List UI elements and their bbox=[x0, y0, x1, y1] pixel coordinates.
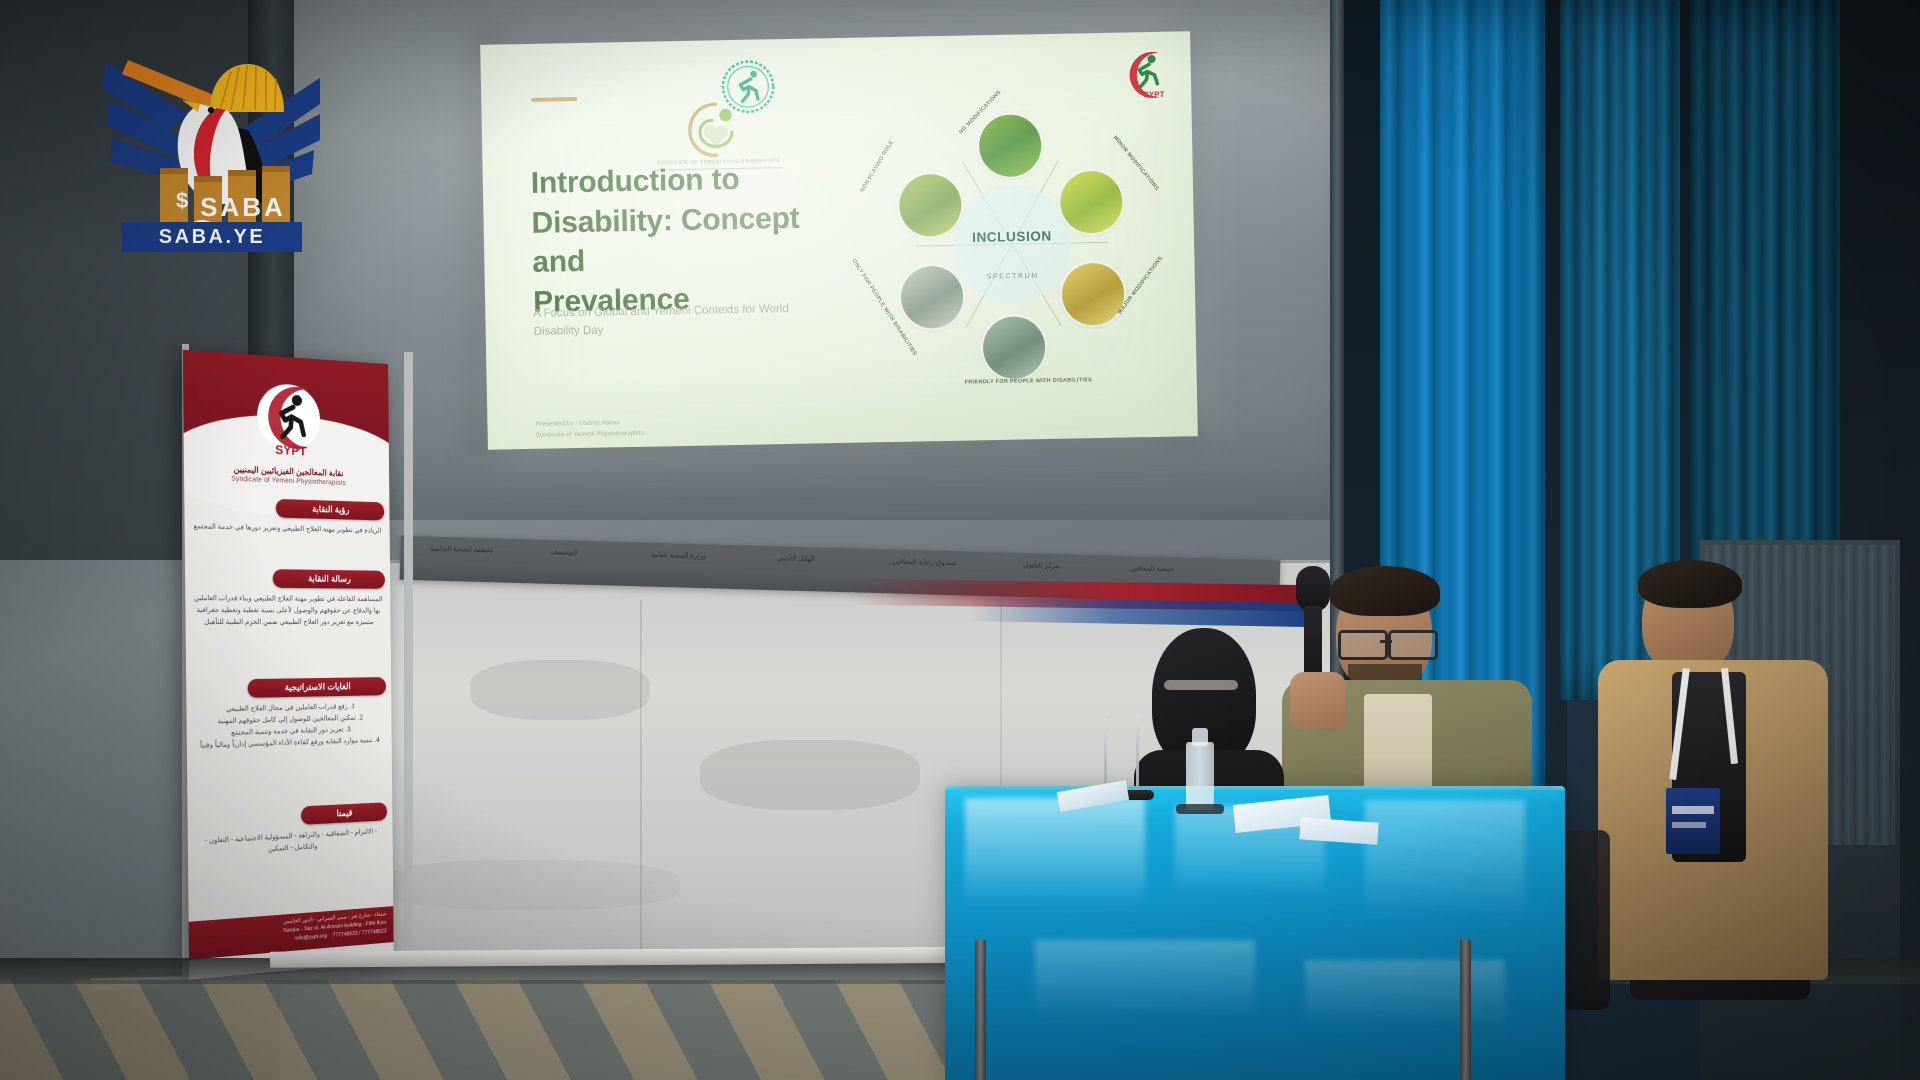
lanyard-badge bbox=[1666, 788, 1720, 854]
photograph-frame: منظمة الصحة العالمية اليونيسف وزارة الصح… bbox=[0, 0, 1920, 1080]
banner-section-heading: رؤية النقابة bbox=[276, 499, 385, 521]
banner-email: info@sypt.org bbox=[295, 933, 327, 941]
water-bottle bbox=[1186, 742, 1214, 810]
banner-section-heading: قيمنا bbox=[301, 802, 387, 825]
wall-joint-line bbox=[640, 600, 642, 950]
slide-accent-rule bbox=[531, 97, 577, 102]
eyeglasses-bridge bbox=[1380, 640, 1392, 643]
slide-title: Introduction to Disability: Concept and … bbox=[530, 158, 853, 322]
banner-logo-text: SYPT bbox=[275, 442, 307, 458]
saba-url-text: SABA.YE bbox=[159, 226, 265, 249]
hair bbox=[1330, 566, 1440, 616]
bottle-base bbox=[1176, 804, 1224, 814]
sponsor-item: اليونيسف bbox=[518, 547, 610, 559]
sponsor-item: وزارة الصحة العامة bbox=[628, 550, 728, 562]
cloth-highlight bbox=[965, 798, 1145, 908]
eye-slit bbox=[1164, 680, 1238, 690]
projection-screen: SYNDICATE OF YEMENI PHYSIOTHERAPISTS Int… bbox=[480, 31, 1198, 450]
banner-section-heading: رسالة النقابة bbox=[273, 569, 385, 589]
cloth-highlight bbox=[1365, 800, 1525, 920]
banner-section-heading: الغايات الاستراتيجية bbox=[248, 677, 386, 698]
wheel-node bbox=[1060, 171, 1123, 234]
wheel-node bbox=[983, 316, 1046, 379]
tiled-floor bbox=[0, 980, 1000, 1080]
wheel-hub-subtitle: SPECTRUM bbox=[987, 273, 1039, 281]
saba-pillar-currency: $ bbox=[176, 188, 188, 213]
badge-line bbox=[1672, 822, 1706, 828]
sponsor-item: منظمة الصحة العالمية bbox=[418, 544, 504, 555]
cloth-highlight bbox=[1035, 940, 1255, 1020]
saba-url-label: SABA.YE bbox=[122, 222, 302, 252]
slide-title-line: Introduction to bbox=[530, 158, 851, 204]
slide-subtitle: A Focus on Global and Yemeni Contexts fo… bbox=[533, 300, 834, 341]
slide-title-line: Disability: Concept and bbox=[531, 197, 852, 282]
wheel-node-label: NON PLAYING ROLE bbox=[857, 135, 899, 199]
hand bbox=[1290, 672, 1346, 730]
table-leg bbox=[975, 940, 986, 1080]
table-cloth bbox=[945, 790, 1565, 1080]
sypt-rollup-banner: SYPT نقابة المعالجين الفيزيائيين اليمنيي… bbox=[183, 350, 394, 980]
banner-section-body: 1. رفع قدرات العاملين في مجال العلاج الط… bbox=[194, 700, 385, 751]
saba-ye-logo-icon: $ SABA bbox=[98, 34, 328, 249]
wheel-node bbox=[899, 174, 962, 237]
sypt-logo-icon: SYPT bbox=[248, 378, 328, 460]
wall-scuff bbox=[470, 660, 650, 720]
wheel-node-label: ONLY FOR PEOPLE WITH DISABILITIES bbox=[850, 258, 898, 327]
wheel-node bbox=[1061, 263, 1124, 326]
banner-section-body: المساهمة الفاعلة في تطوير مهنة العلاج ال… bbox=[193, 592, 384, 628]
slide-presenter-credit: Presented by : Usama Abbas Syndicate of … bbox=[535, 414, 765, 441]
banner-section-body: الريادة في تطوير مهنة العلاج الطبيعي وتع… bbox=[192, 520, 382, 536]
banner-section-body: - الالتزام - الشفافية - والنزاهة - المسؤ… bbox=[196, 825, 386, 859]
inclusion-spectrum-wheel: INCLUSION SPECTRUM NO MODIFICATIONS MINO… bbox=[849, 76, 1175, 412]
banner-pole-right bbox=[404, 352, 413, 952]
table-leg bbox=[1460, 940, 1471, 1080]
wall-scuff bbox=[700, 740, 920, 810]
badge-line bbox=[1672, 806, 1714, 814]
cloth-highlight bbox=[1305, 960, 1505, 1030]
bottle-neck bbox=[1192, 728, 1208, 746]
wheel-node bbox=[901, 266, 964, 329]
eyeglasses-icon bbox=[1388, 630, 1438, 660]
paralympic-badge-icon bbox=[718, 57, 777, 116]
mic-stand bbox=[1136, 714, 1139, 794]
wheel-hub-title: INCLUSION bbox=[972, 229, 1052, 246]
eyeglasses-icon bbox=[1338, 630, 1388, 660]
wheel-node bbox=[979, 114, 1042, 177]
sponsor-item: الهلال الأحمر bbox=[748, 553, 844, 565]
saba-wordmark: SABA bbox=[200, 192, 286, 222]
wall-scuff bbox=[380, 860, 680, 910]
panelist-seated bbox=[1580, 560, 1880, 980]
curtain-panel bbox=[1690, 0, 1840, 620]
hair bbox=[1638, 560, 1742, 608]
wheel-node-label: FRIENDLY FOR PEOPLE WITH DISABILITIES bbox=[965, 378, 1071, 387]
